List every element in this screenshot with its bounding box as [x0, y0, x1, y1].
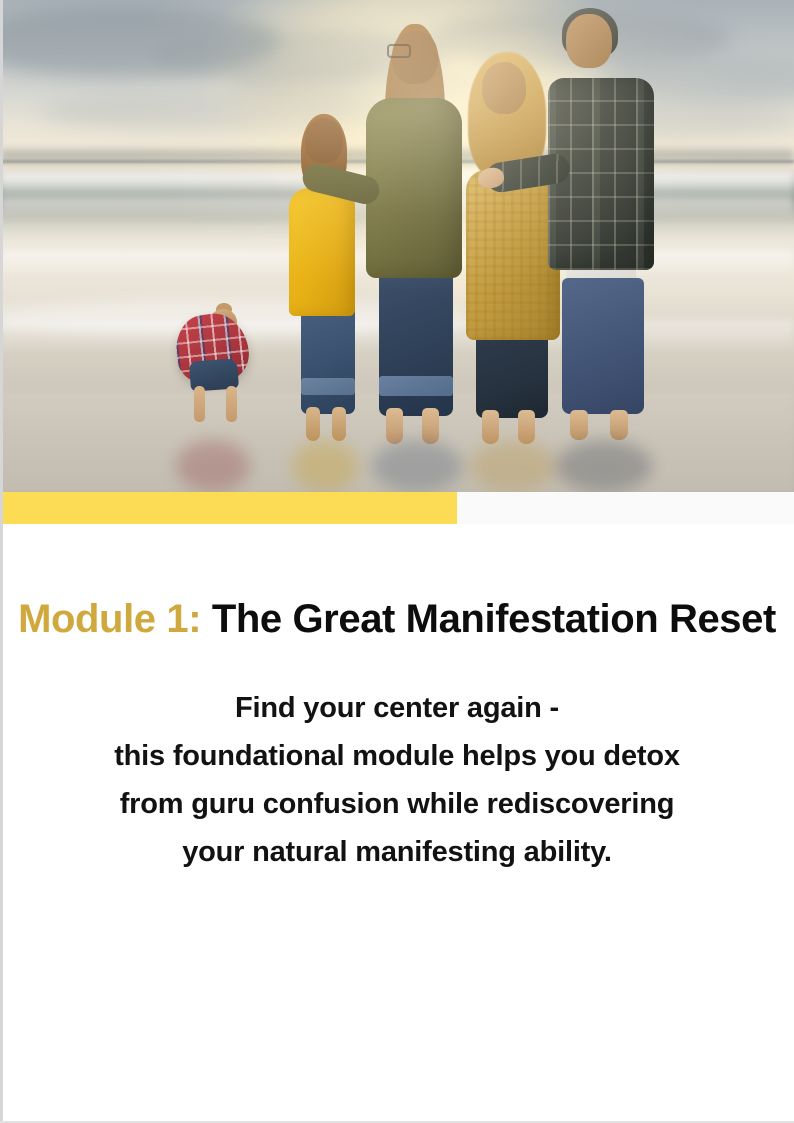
child-leg	[226, 386, 237, 422]
module-description: Find your center again - this foundation…	[10, 685, 784, 876]
woman-mustard-foot	[518, 410, 535, 444]
girl-yellow-raincoat	[289, 188, 355, 316]
description-line: from guru confusion while rediscovering	[10, 781, 784, 829]
girl-foot	[332, 407, 346, 441]
child-leg	[194, 386, 205, 422]
girl-foot	[306, 407, 320, 441]
page-title: Module 1: The Great Manifestation Reset	[18, 594, 776, 645]
page-edge-left	[0, 0, 3, 1123]
accent-bar-gap	[457, 492, 794, 524]
woman-olive-foot	[386, 408, 403, 444]
girl-jeans	[301, 304, 355, 414]
description-line: your natural manifesting ability.	[10, 829, 784, 877]
module-title: The Great Manifestation Reset	[201, 597, 776, 641]
hero-photo	[0, 0, 794, 492]
woman-mustard-head	[482, 62, 526, 114]
module-label: Module 1:	[18, 597, 201, 641]
girl-head	[305, 118, 343, 163]
module-slide-page: Module 1: The Great Manifestation Reset …	[0, 0, 794, 1123]
woman-olive-jeans-cuff	[379, 376, 453, 396]
woman-mustard-jeans	[476, 330, 548, 418]
woman-olive-foot	[422, 408, 439, 444]
woman-mustard-knit-cardigan	[466, 170, 560, 340]
man-foot	[610, 410, 628, 440]
sunglasses-icon	[387, 44, 411, 58]
description-line: this foundational module helps you detox	[10, 733, 784, 781]
description-line: Find your center again -	[10, 685, 784, 733]
man-jeans	[562, 278, 644, 414]
man-foot	[570, 410, 588, 440]
girl-jeans-cuff	[301, 378, 355, 395]
woman-mustard-foot	[482, 410, 499, 444]
content-area: Module 1: The Great Manifestation Reset …	[0, 524, 794, 877]
woman-olive-sweater	[366, 98, 462, 278]
yellow-accent-bar	[0, 492, 457, 524]
man-head	[566, 14, 612, 68]
